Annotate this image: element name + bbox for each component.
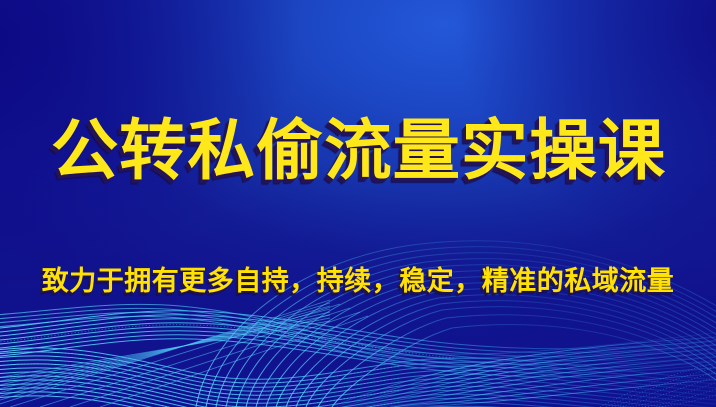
promo-poster: 公转私偷流量实操课 致力于拥有更多自持，持续，稳定，精准的私域流量: [0, 0, 716, 407]
wave-mesh-artwork: [0, 0, 716, 407]
